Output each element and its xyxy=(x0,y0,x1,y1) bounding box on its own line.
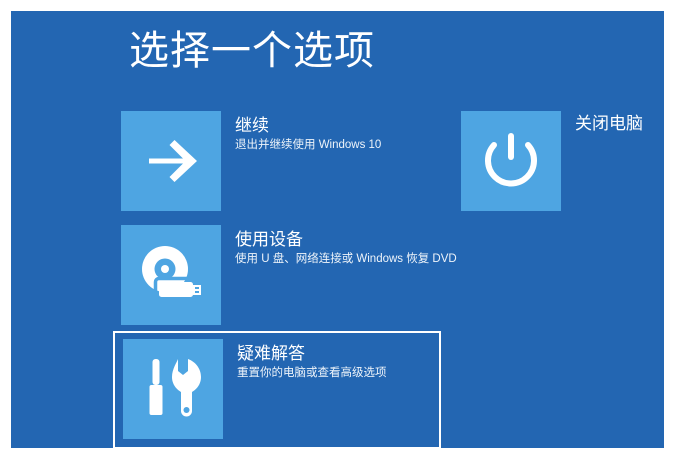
recovery-options-screen: 选择一个选项 继续 退出并继续使用 Windows 10 xyxy=(11,11,664,448)
option-continue-subtitle: 退出并继续使用 Windows 10 xyxy=(235,138,381,153)
option-use-device[interactable]: 使用设备 使用 U 盘、网络连接或 Windows 恢复 DVD xyxy=(121,225,457,325)
option-troubleshoot-title: 疑难解答 xyxy=(237,343,387,365)
option-troubleshoot[interactable]: 疑难解答 重置你的电脑或查看高级选项 xyxy=(113,331,441,448)
option-continue[interactable]: 继续 退出并继续使用 Windows 10 xyxy=(121,111,381,211)
option-troubleshoot-subtitle: 重置你的电脑或查看高级选项 xyxy=(237,366,387,381)
option-use-device-text: 使用设备 使用 U 盘、网络连接或 Windows 恢复 DVD xyxy=(235,225,457,267)
option-use-device-title: 使用设备 xyxy=(235,229,457,251)
option-continue-tile[interactable] xyxy=(121,111,221,211)
page-title: 选择一个选项 xyxy=(129,27,375,75)
option-turn-off-pc[interactable]: 关闭电脑 xyxy=(461,111,643,211)
option-use-device-subtitle: 使用 U 盘、网络连接或 Windows 恢复 DVD xyxy=(235,252,457,267)
option-turn-off-pc-text: 关闭电脑 xyxy=(575,111,643,135)
option-continue-title: 继续 xyxy=(235,115,381,137)
option-continue-text: 继续 退出并继续使用 Windows 10 xyxy=(235,111,381,153)
option-use-device-tile[interactable] xyxy=(121,225,221,325)
option-troubleshoot-text: 疑难解答 重置你的电脑或查看高级选项 xyxy=(237,339,387,381)
option-turn-off-pc-tile[interactable] xyxy=(461,111,561,211)
option-turn-off-pc-title: 关闭电脑 xyxy=(575,113,643,135)
option-troubleshoot-tile[interactable] xyxy=(123,339,223,439)
